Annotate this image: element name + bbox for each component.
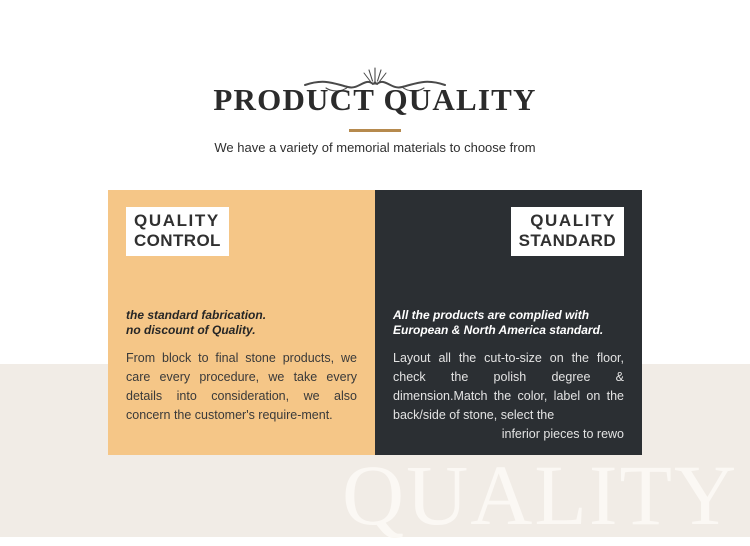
quality-standard-tag: QUALITY STANDARD [511, 207, 624, 256]
quality-standard-body: Layout all the cut-to-size on the floor,… [393, 349, 624, 444]
quality-watermark: QUALITY [342, 452, 750, 538]
quality-control-panel: QUALITY CONTROL the standard fabrication… [108, 190, 375, 455]
quality-standard-lead-line-2: European & North America standard. [393, 323, 624, 338]
page-subtitle: We have a variety of memorial materials … [0, 139, 750, 157]
quality-control-tag-wrap: QUALITY CONTROL [126, 207, 357, 256]
quality-standard-tag-line-1: QUALITY [519, 211, 616, 231]
quality-control-tag: QUALITY CONTROL [126, 207, 229, 256]
quality-standard-body-last-line: inferior pieces to rewo [393, 425, 624, 444]
quality-control-lead-line-2: no discount of Quality. [126, 323, 357, 338]
quality-control-lead-line-1: the standard fabrication. [126, 308, 357, 323]
title-divider [349, 129, 401, 132]
quality-control-tag-line-2: CONTROL [134, 231, 221, 251]
quality-standard-lead-line-1: All the products are complied with [393, 308, 624, 323]
quality-standard-tag-wrap: QUALITY STANDARD [393, 207, 624, 256]
quality-control-lead: the standard fabrication. no discount of… [126, 308, 357, 338]
quality-control-tag-line-1: QUALITY [134, 211, 221, 231]
quality-standard-tag-line-2: STANDARD [519, 231, 616, 251]
quality-control-body: From block to final stone products, we c… [126, 349, 357, 425]
page-title: PRODUCT QUALITY [0, 83, 750, 117]
quality-standard-lead: All the products are complied with Europ… [393, 308, 624, 338]
quality-standard-body-main: Layout all the cut-to-size on the floor,… [393, 351, 624, 422]
quality-standard-panel: QUALITY STANDARD All the products are co… [375, 190, 642, 455]
product-quality-page: QUALITY [0, 0, 750, 546]
